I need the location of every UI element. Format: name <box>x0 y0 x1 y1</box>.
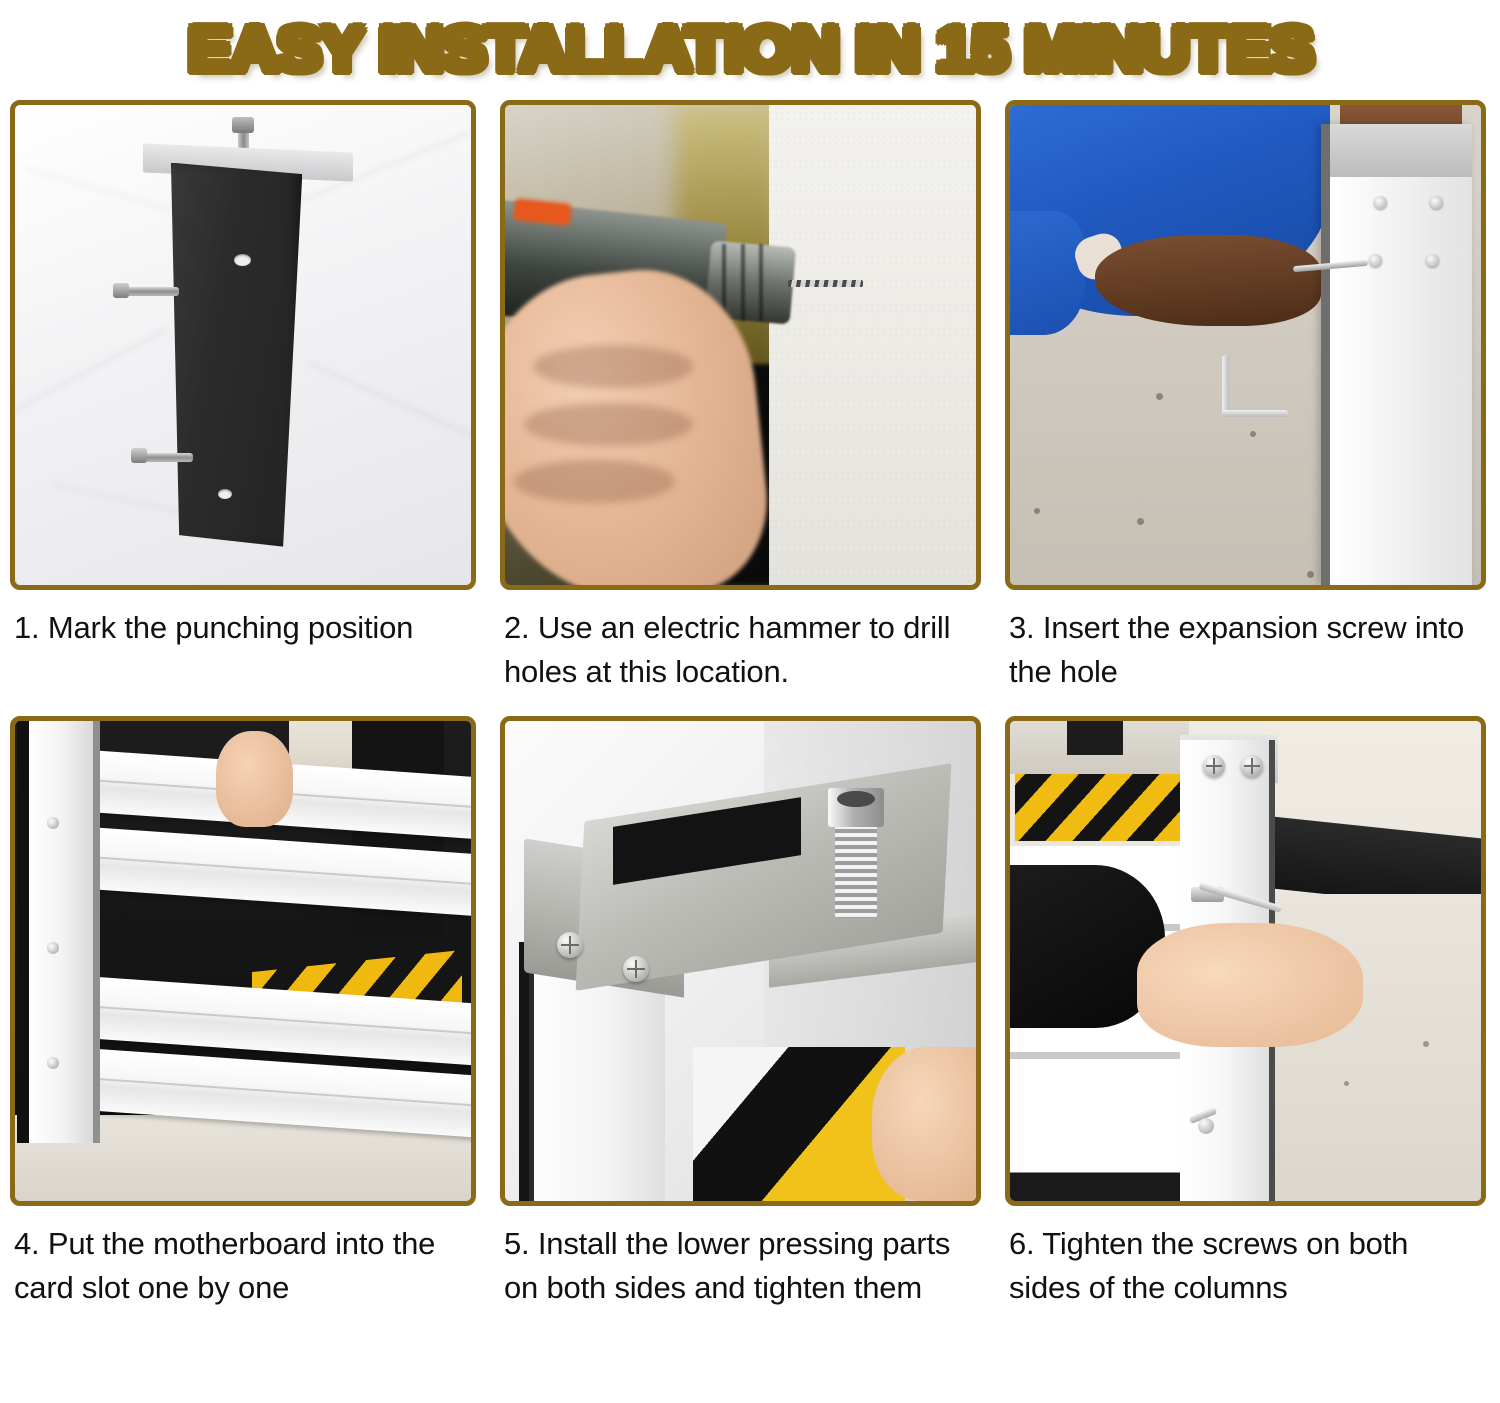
installer-hand <box>1137 923 1363 1048</box>
allen-key-vertical-icon <box>1222 355 1229 417</box>
finger-crease-icon <box>514 460 674 503</box>
mounting-hole-icon <box>218 489 232 499</box>
floor-speck-icon <box>1344 1081 1349 1086</box>
step-4-photo <box>10 716 476 1206</box>
column-top-cap <box>1330 124 1471 177</box>
finger-crease-icon <box>524 403 694 446</box>
column-screw-icon <box>47 1057 59 1069</box>
step-6-caption: 6. Tighten the screws on both sides of t… <box>1005 1206 1483 1310</box>
step-6-photo <box>1005 716 1486 1206</box>
vertical-bolt-head-icon <box>232 117 254 133</box>
step-3-photo <box>1005 100 1486 590</box>
column-screw-icon <box>1426 254 1439 267</box>
floor-speck-icon <box>1307 571 1314 578</box>
step-cell-2: 2. Use an electric hammer to drill holes… <box>490 100 995 694</box>
bracket-screw-icon <box>557 932 583 958</box>
step-cell-6: 6. Tighten the screws on both sides of t… <box>995 716 1500 1310</box>
column-screw-icon <box>1241 755 1263 777</box>
step-1-photo <box>10 100 476 590</box>
step-cell-4: 4. Put the motherboard into the card slo… <box>0 716 490 1310</box>
column-screw-icon <box>1369 254 1382 267</box>
step-5-caption: 5. Install the lower pressing parts on b… <box>500 1206 978 1310</box>
step-cell-5: 5. Install the lower pressing parts on b… <box>490 716 995 1310</box>
column-screw-icon <box>47 942 59 954</box>
step-2-caption: 2. Use an electric hammer to drill holes… <box>500 590 978 694</box>
chuck-ring-icon <box>741 244 745 321</box>
allen-key-horizontal-icon <box>1222 410 1288 417</box>
step-1-caption: 1. Mark the punching position <box>10 590 476 650</box>
step-3-caption: 3. Insert the expansion screw into the h… <box>1005 590 1483 694</box>
steps-grid-row-2: 4. Put the motherboard into the card slo… <box>0 716 1500 1310</box>
expansion-bolt-upper-head-icon <box>113 283 129 298</box>
mounting-hole-icon <box>234 254 251 266</box>
floor-speck-icon <box>1156 393 1163 400</box>
floor-speck-icon <box>1034 508 1040 514</box>
column-screw-icon <box>1374 196 1387 209</box>
floor-speck-icon <box>1137 518 1144 525</box>
worker-forearm <box>1095 235 1321 326</box>
hazard-stripe-icon <box>1015 774 1180 841</box>
expansion-bolt-lower-head-icon <box>131 448 147 463</box>
upper-dark-block <box>1067 721 1124 755</box>
column-dark-edge <box>519 942 528 1201</box>
step-2-photo <box>500 100 981 590</box>
page-title: EASY INSTALLATION IN 15 MINUTES <box>188 19 1313 81</box>
column-base-plate <box>165 163 302 547</box>
finger-crease-icon <box>533 345 693 388</box>
step-4-caption: 4. Put the motherboard into the card slo… <box>10 1206 476 1310</box>
step-cell-1: 1. Mark the punching position <box>0 100 490 694</box>
blue-sleeve <box>1010 211 1085 336</box>
white-textured-wall <box>769 105 976 585</box>
bolt-bore-icon <box>837 791 875 808</box>
drill-bit-icon <box>788 280 863 287</box>
bracket-screw-icon <box>623 956 649 982</box>
column-screw-icon <box>1203 755 1225 777</box>
installer-hand <box>216 731 294 827</box>
steps-grid-row-1: 1. Mark the punching position <box>0 100 1500 694</box>
chuck-ring-icon <box>759 244 763 321</box>
step-5-photo <box>500 716 981 1206</box>
column-screw-icon <box>47 817 59 829</box>
installer-hand <box>872 1047 976 1201</box>
header-banner: EASY INSTALLATION IN 15 MINUTES <box>0 0 1500 100</box>
white-guide-column <box>1321 124 1471 585</box>
step-cell-3: 3. Insert the expansion screw into the h… <box>995 100 1500 694</box>
white-guide-column <box>29 721 100 1143</box>
